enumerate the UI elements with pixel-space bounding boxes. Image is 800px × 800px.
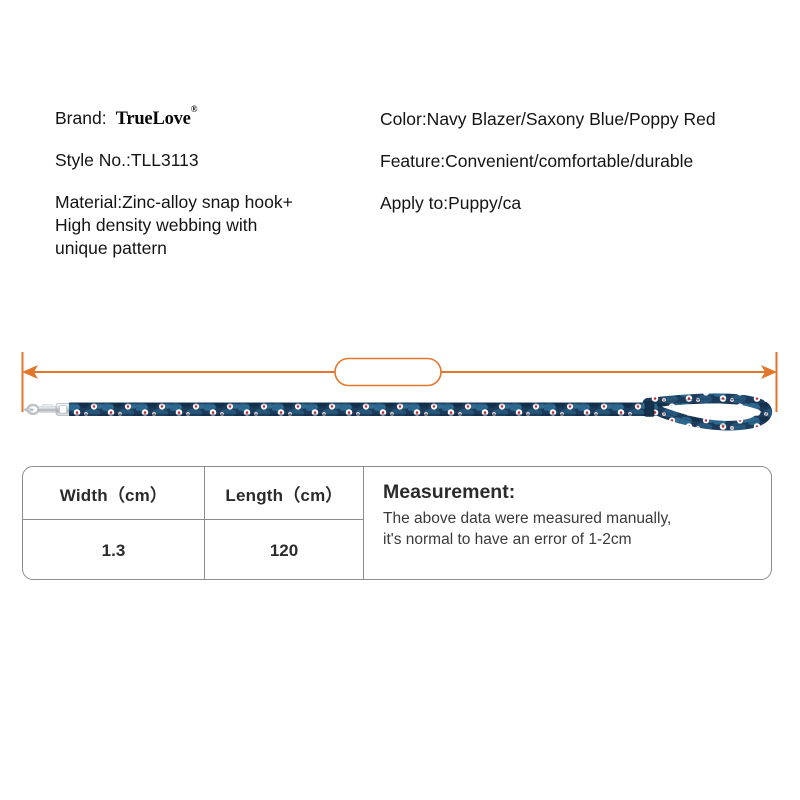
table-header-length: Length（cm） <box>205 467 363 519</box>
feature-line: Feature:Convenient/comfortable/durable <box>380 150 780 173</box>
apply-to-line: Apply to:Puppy/ca <box>380 192 780 215</box>
leash-illustration-svg <box>0 375 800 445</box>
color-line: Color:Navy Blazer/Saxony Blue/Poppy Red <box>380 108 780 131</box>
table-value-length: 120 <box>205 520 363 580</box>
table-header-width: Width（cm） <box>23 467 204 519</box>
brand-row: Brand: TrueLove® <box>55 108 365 130</box>
specification-table: Width（cm） Length（cm） 1.3 120 Measurement… <box>22 466 772 580</box>
brand-logo: TrueLove® <box>116 109 198 130</box>
brand-label: Brand: <box>55 108 107 129</box>
product-spec-block: Brand: TrueLove® Style No.:TLL3113 Mater… <box>0 108 800 308</box>
style-number-line: Style No.:TLL3113 <box>55 149 365 172</box>
spec-column-left: Brand: TrueLove® Style No.:TLL3113 Mater… <box>55 108 365 260</box>
loop-stitch-joint <box>645 402 654 417</box>
registered-trademark-icon: ® <box>191 104 198 114</box>
material-line: Material:Zinc-alloy snap hook+ High dens… <box>55 191 365 260</box>
product-image <box>0 375 800 445</box>
measurement-note-panel: Measurement: The above data were measure… <box>364 467 772 580</box>
leash-handle-loop <box>645 399 767 425</box>
snap-hook-hardware <box>26 403 71 415</box>
measurement-title: Measurement: <box>383 479 772 505</box>
measurement-note-line-2: it's normal to have an error of 1-2cm <box>383 529 772 550</box>
brand-logo-text: TrueLove <box>116 109 191 129</box>
spec-column-right: Color:Navy Blazer/Saxony Blue/Poppy Red … <box>380 108 780 215</box>
measurement-note-line-1: The above data were measured manually, <box>383 508 772 529</box>
table-value-width: 1.3 <box>23 520 204 580</box>
